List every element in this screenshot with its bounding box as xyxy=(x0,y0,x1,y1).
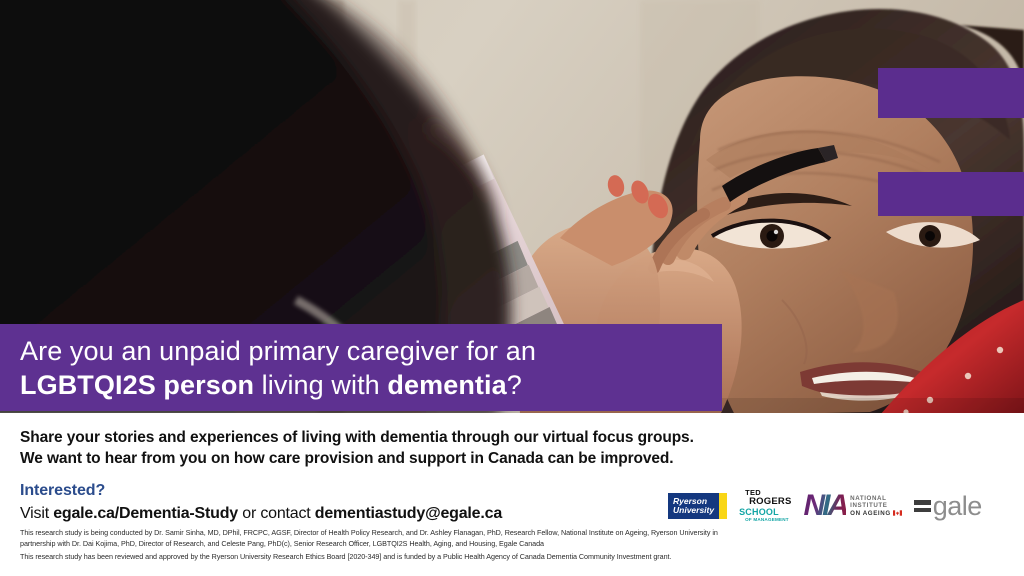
nia-line-3: ON AGEING xyxy=(850,510,891,517)
partner-logos: Ryerson University TED ROGERS SCHOOL OF … xyxy=(668,484,1020,528)
lede-block: Share your stories and experiences of li… xyxy=(20,427,900,469)
nia-monogram: NIA xyxy=(803,492,846,520)
equals-bar-bottom-icon xyxy=(878,172,1024,216)
ryerson-wordmark: Ryerson University xyxy=(668,493,719,519)
canada-flag-icon xyxy=(893,510,902,516)
equals-bar-top-icon xyxy=(878,68,1024,118)
ted-rogers-line-3: SCHOOL xyxy=(739,508,779,517)
headline-question-mark: ? xyxy=(507,370,522,400)
headline-line-1: Are you an unpaid primary caregiver for … xyxy=(20,334,722,368)
nia-wordmark: NATIONAL INSTITUTE ON AGEING xyxy=(850,495,902,518)
ted-rogers-line-4: OF MANAGEMENT xyxy=(745,518,789,523)
lede-line-2: We want to hear from you on how care pro… xyxy=(20,448,900,469)
headline-bold-dementia: dementia xyxy=(387,370,506,400)
ted-rogers-line-1: TED xyxy=(745,489,761,497)
ryerson-yellow-bar-icon xyxy=(719,493,727,519)
egale-wordmark: gale xyxy=(933,493,982,519)
ted-rogers-school-logo: TED ROGERS SCHOOL OF MANAGEMENT xyxy=(739,489,791,523)
fine-print-block: This research study is being conducted b… xyxy=(20,528,980,562)
nia-line-1: NATIONAL xyxy=(850,495,902,503)
ryerson-university-logo: Ryerson University xyxy=(668,493,727,519)
fine-print-line-2: partnership with Dr. Dai Kojima, PhD, Di… xyxy=(20,539,980,550)
headline-bold-lgbtqi2s: LGBTQI2S person xyxy=(20,370,254,400)
fine-print-line-3: This research study has been reviewed an… xyxy=(20,552,980,563)
ryerson-line-2: University xyxy=(673,506,714,516)
nia-line-3-wrap: ON AGEING xyxy=(850,510,902,518)
nia-line-2: INSTITUTE xyxy=(850,502,902,510)
lede-line-1: Share your stories and experiences of li… xyxy=(20,427,900,448)
visit-prefix: Visit xyxy=(20,505,53,522)
visit-middle: or contact xyxy=(238,505,315,522)
visit-line: Visit egale.ca/Dementia-Study or contact… xyxy=(20,503,502,524)
ted-rogers-line-2: ROGERS xyxy=(749,497,791,507)
interested-heading: Interested? xyxy=(20,481,105,501)
national-institute-on-ageing-logo: NIA NATIONAL INSTITUTE ON AGEING xyxy=(803,492,901,520)
study-email-link[interactable]: dementiastudy@egale.ca xyxy=(315,505,502,522)
egale-logo: gale xyxy=(914,493,982,519)
poster-root: Are you an unpaid primary caregiver for … xyxy=(0,0,1024,576)
study-url-link[interactable]: egale.ca/Dementia-Study xyxy=(53,505,238,522)
headline-mid: living with xyxy=(254,370,387,400)
fine-print-line-1: This research study is being conducted b… xyxy=(20,528,980,539)
headline-banner: Are you an unpaid primary caregiver for … xyxy=(0,324,722,411)
egale-e-bars-icon xyxy=(914,500,931,512)
headline-line-2: LGBTQI2S person living with dementia? xyxy=(20,368,722,402)
